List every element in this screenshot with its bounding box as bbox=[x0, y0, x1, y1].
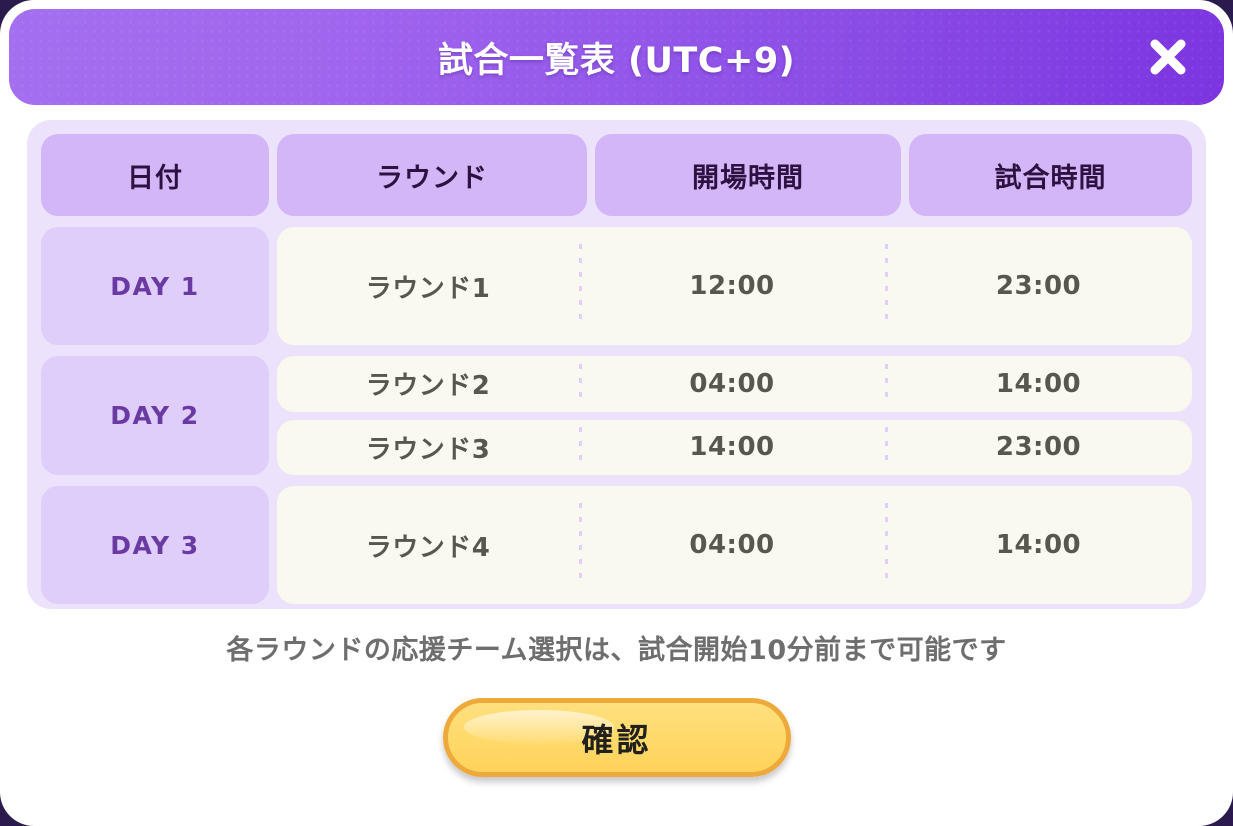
rounds-stack: ラウンド2 04:00 14:00 ラウンド3 14:00 23:00 bbox=[277, 356, 1192, 475]
round-name: ラウンド3 bbox=[277, 420, 579, 476]
column-divider-icon bbox=[579, 503, 582, 588]
round-name: ラウンド1 bbox=[277, 227, 579, 345]
column-divider-icon bbox=[579, 244, 582, 329]
round-name: ラウンド4 bbox=[277, 486, 579, 604]
column-divider-icon bbox=[885, 427, 888, 467]
match-schedule-dialog: 試合一覧表 (UTC+9) 日付 ラウンド 開場時間 試合時間 DAY 1 ラウ… bbox=[0, 0, 1233, 826]
day-label: DAY 3 bbox=[41, 486, 269, 604]
table-row-group-day3: DAY 3 ラウンド4 04:00 14:00 bbox=[41, 486, 1192, 604]
table-row: ラウンド4 04:00 14:00 bbox=[277, 486, 1192, 604]
confirm-button-wrapper: 確認 bbox=[443, 698, 791, 777]
info-note: 各ラウンドの応援チーム選択は、試合開始10分前まで可能です bbox=[0, 628, 1233, 667]
confirm-button[interactable]: 確認 bbox=[443, 698, 791, 777]
dialog-header: 試合一覧表 (UTC+9) bbox=[9, 9, 1224, 105]
column-header-open-time: 開場時間 bbox=[595, 134, 901, 216]
day-label: DAY 1 bbox=[41, 227, 269, 345]
rounds-stack: ラウンド4 04:00 14:00 bbox=[277, 486, 1192, 604]
table-header-row: 日付 ラウンド 開場時間 試合時間 bbox=[41, 134, 1192, 216]
schedule-table: 日付 ラウンド 開場時間 試合時間 DAY 1 ラウンド1 12:00 23:0… bbox=[27, 120, 1206, 609]
match-time: 14:00 bbox=[885, 486, 1192, 604]
column-header-round: ラウンド bbox=[277, 134, 587, 216]
rounds-stack: ラウンド1 12:00 23:00 bbox=[277, 227, 1192, 345]
column-divider-icon bbox=[579, 427, 582, 467]
column-header-match-time: 試合時間 bbox=[909, 134, 1192, 216]
day-label: DAY 2 bbox=[41, 356, 269, 475]
open-time: 04:00 bbox=[579, 486, 885, 604]
table-row: ラウンド1 12:00 23:00 bbox=[277, 227, 1192, 345]
open-time: 14:00 bbox=[579, 420, 885, 476]
column-divider-icon bbox=[885, 364, 888, 404]
open-time: 04:00 bbox=[579, 356, 885, 412]
close-icon[interactable] bbox=[1142, 31, 1194, 83]
page-title: 試合一覧表 (UTC+9) bbox=[438, 32, 795, 83]
table-row-group-day1: DAY 1 ラウンド1 12:00 23:00 bbox=[41, 227, 1192, 345]
match-time: 23:00 bbox=[885, 227, 1192, 345]
column-divider-icon bbox=[885, 244, 888, 329]
table-row: ラウンド2 04:00 14:00 bbox=[277, 356, 1192, 412]
open-time: 12:00 bbox=[579, 227, 885, 345]
match-time: 14:00 bbox=[885, 356, 1192, 412]
match-time: 23:00 bbox=[885, 420, 1192, 476]
table-row: ラウンド3 14:00 23:00 bbox=[277, 420, 1192, 476]
column-header-date: 日付 bbox=[41, 134, 269, 216]
confirm-button-label: 確認 bbox=[581, 715, 651, 761]
table-row-group-day2: DAY 2 ラウンド2 04:00 14:00 ラウンド3 14:00 23:0… bbox=[41, 356, 1192, 475]
column-divider-icon bbox=[579, 364, 582, 404]
column-divider-icon bbox=[885, 503, 888, 588]
round-name: ラウンド2 bbox=[277, 356, 579, 412]
